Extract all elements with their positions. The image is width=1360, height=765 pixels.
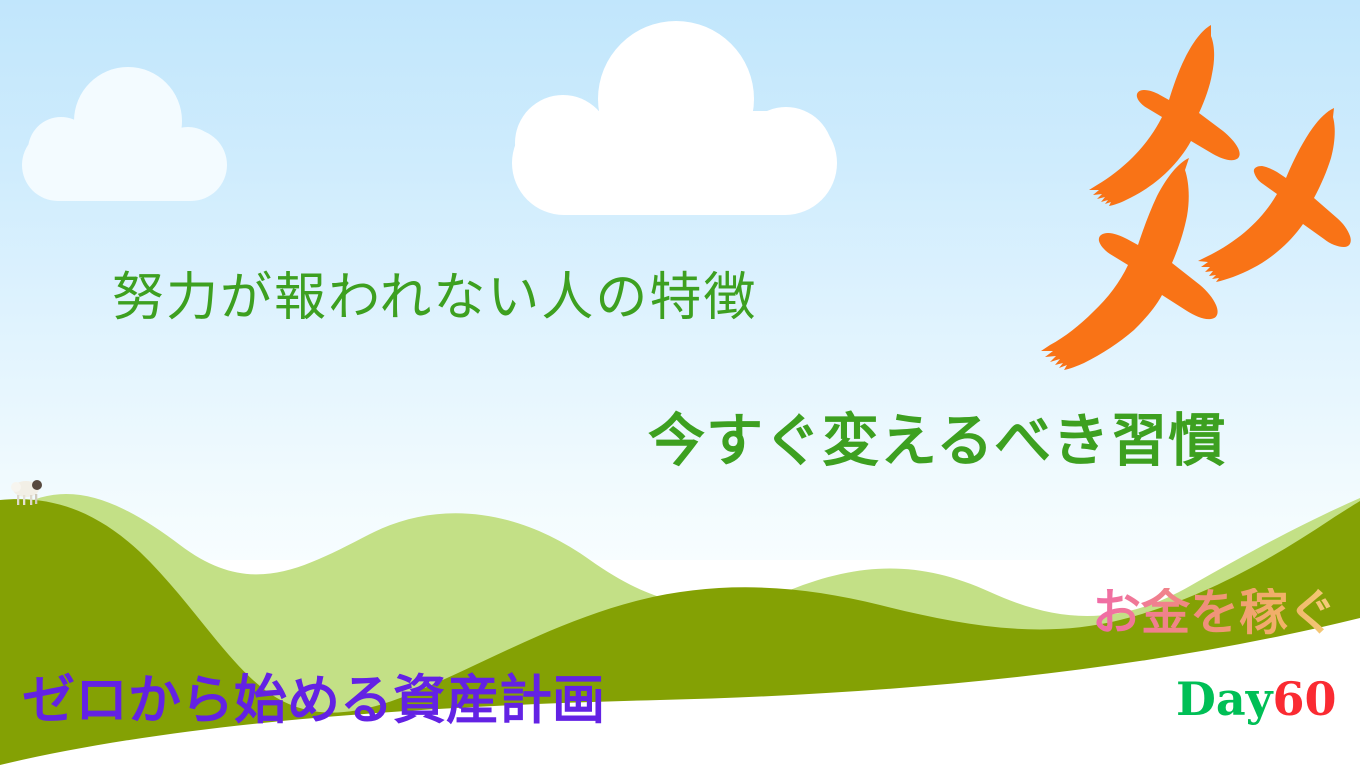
headline-secondary: 今すぐ変えるべき習慣	[648, 412, 1226, 469]
sheep-leg	[30, 495, 32, 505]
illustration-canvas: 努力が報われない人の特徴 今すぐ変えるべき習慣 お金を稼ぐ ゼロから始める資産計…	[0, 0, 1360, 765]
tagline-plan: ゼロから始める資産計画	[22, 674, 605, 727]
tagline-money: お金を稼ぐ	[1092, 588, 1337, 637]
headline-primary: 努力が報われない人の特徴	[112, 272, 757, 324]
day-counter-label: Day	[1176, 672, 1272, 726]
sheep-leg	[35, 494, 37, 504]
hills-landscape	[0, 0, 1360, 765]
sheep-head	[32, 480, 42, 490]
sheep-leg	[23, 495, 25, 505]
sheep-icon	[8, 477, 48, 509]
day-counter-number: 60	[1272, 672, 1336, 726]
sheep-leg	[17, 495, 19, 505]
day-counter: Day60	[1176, 676, 1336, 722]
sheep-wool	[11, 482, 21, 492]
